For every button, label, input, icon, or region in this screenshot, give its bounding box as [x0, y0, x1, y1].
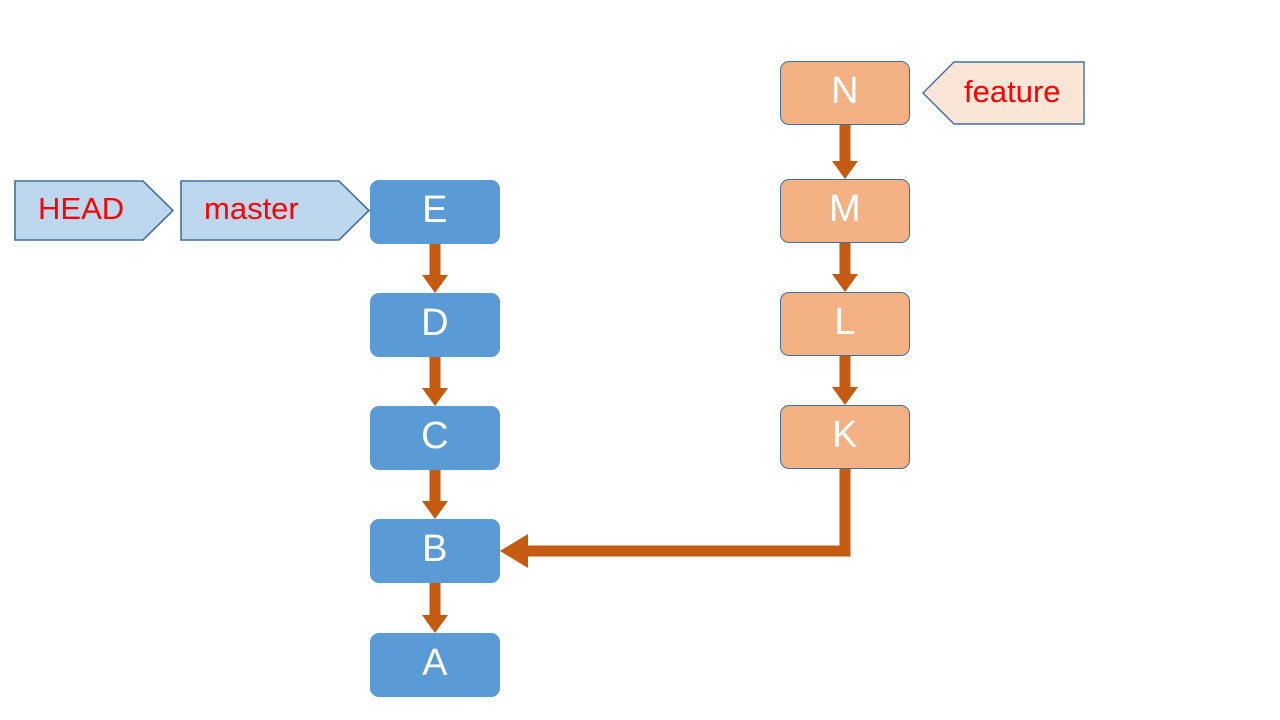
- commit-label-n: N: [831, 72, 859, 110]
- edge-b-a: [422, 583, 448, 633]
- ref-tag-master[interactable]: master: [180, 180, 370, 241]
- connector-layer: [0, 0, 1280, 720]
- edge-k-b-merge: [500, 469, 845, 568]
- edge-e-d: [422, 244, 448, 293]
- commit-node-l[interactable]: L: [780, 292, 910, 356]
- commit-node-b[interactable]: B: [370, 519, 500, 583]
- commit-node-k[interactable]: K: [780, 405, 910, 469]
- commit-label-a: A: [422, 644, 448, 682]
- diagram-canvas: E D C B A N M L K HEAD master: [0, 0, 1280, 720]
- edge-m-l: [832, 243, 858, 292]
- ref-tag-feature[interactable]: feature: [922, 61, 1085, 125]
- commit-label-k: K: [832, 416, 858, 454]
- commit-node-d[interactable]: D: [370, 293, 500, 357]
- commit-node-e[interactable]: E: [370, 180, 500, 244]
- edge-l-k: [832, 356, 858, 405]
- ref-tag-head[interactable]: HEAD: [14, 180, 174, 241]
- commit-label-d: D: [421, 304, 449, 342]
- ref-tag-head-label: HEAD: [14, 193, 124, 224]
- commit-label-e: E: [422, 191, 448, 229]
- ref-tag-master-label: master: [180, 193, 299, 224]
- commit-label-l: L: [834, 303, 855, 341]
- commit-label-b: B: [422, 530, 448, 568]
- edge-n-m: [832, 125, 858, 179]
- commit-node-m[interactable]: M: [780, 179, 910, 243]
- commit-node-n[interactable]: N: [780, 61, 910, 125]
- commit-node-a[interactable]: A: [370, 633, 500, 697]
- commit-node-c[interactable]: C: [370, 406, 500, 470]
- ref-tag-feature-label: feature: [922, 76, 1061, 107]
- edge-d-c: [422, 357, 448, 406]
- commit-label-c: C: [421, 417, 449, 455]
- edge-c-b: [422, 470, 448, 519]
- commit-label-m: M: [829, 190, 861, 228]
